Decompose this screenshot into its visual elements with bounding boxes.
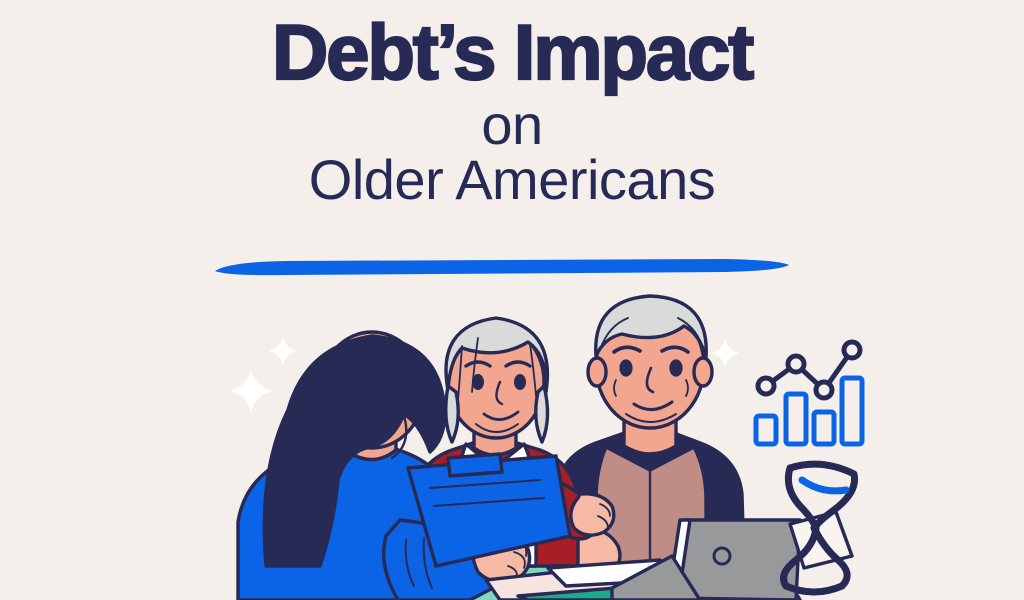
sparkle-small-left-icon bbox=[268, 336, 298, 366]
bar-chart-with-trendline-icon bbox=[748, 336, 866, 448]
title-underline bbox=[212, 256, 792, 278]
sparkle-small-right-icon bbox=[710, 338, 740, 368]
hourglass-icon bbox=[768, 452, 876, 600]
infographic-canvas: Debt’s Impact on Older Americans bbox=[0, 0, 1024, 600]
sparkle-large-left-icon bbox=[228, 368, 274, 414]
